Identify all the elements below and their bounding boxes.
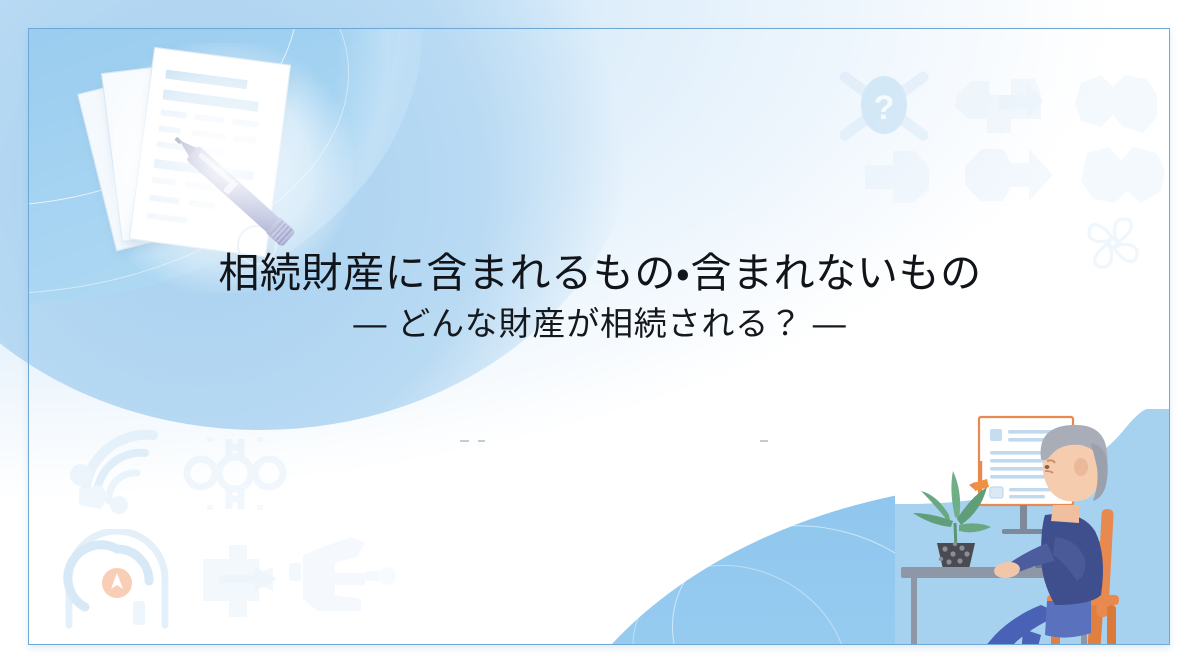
bone-link-icon [1077,141,1169,213]
bone-connector-icon [1071,69,1167,147]
question-mark-glyph: ? [874,89,895,127]
page-title: 相続財産に含まれるもの・含まれないもの [0,248,1200,298]
gear-hand-icon [279,529,397,627]
title-block: 相続財産に含まれるもの・含まれないもの — どんな財産が相続される？ — [0,248,1200,346]
wifi-signal-icon [57,417,177,523]
micro-mark-3 [760,440,768,442]
page-subtitle: — どんな財産が相続される？ — [0,303,1200,346]
micro-marks-row [0,436,1200,450]
radar-compass-icon [59,529,175,639]
x-cross-question-icon: ? [829,61,939,151]
slide-canvas: ? [0,0,1200,672]
arrow-chain-icon [959,139,1059,215]
arrow-plug-icon [859,145,945,211]
arrow-link-icon [949,69,1049,147]
micro-mark-2 [478,440,485,442]
micro-mark-1 [460,440,469,442]
puzzle-arrow-icon [189,535,285,627]
